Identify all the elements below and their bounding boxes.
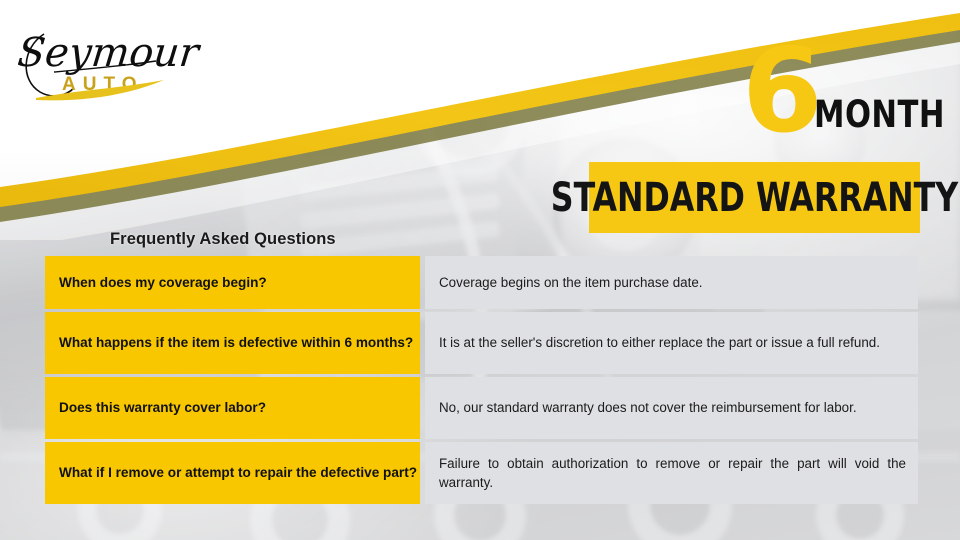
faq-answer-text: It is at the seller's discretion to eith… — [439, 333, 906, 352]
faq-question-text: When does my coverage begin? — [59, 274, 267, 292]
warranty-slide: Seymour AUTO 6 MONTH STANDARD WARRANTY F… — [0, 0, 960, 540]
faq-question-cell: What if I remove or attempt to repair th… — [45, 442, 420, 504]
faq-answer-text: Coverage begins on the item purchase dat… — [439, 273, 906, 292]
warranty-month-label: MONTH — [814, 96, 945, 133]
faq-answer-text: No, our standard warranty does not cover… — [439, 398, 906, 417]
faq-question-text: What if I remove or attempt to repair th… — [59, 464, 417, 482]
table-row: Does this warranty cover labor? No, our … — [45, 377, 918, 439]
standard-warranty-banner: STANDARD WARRANTY — [589, 162, 920, 233]
seymour-auto-logo: Seymour AUTO — [18, 14, 208, 106]
faq-answer-cell: Coverage begins on the item purchase dat… — [425, 256, 918, 309]
faq-question-cell: What happens if the item is defective wi… — [45, 312, 420, 374]
faq-table: When does my coverage begin? Coverage be… — [45, 256, 918, 504]
faq-answer-text: Failure to obtain authorization to remov… — [439, 454, 906, 492]
faq-question-text: What happens if the item is defective wi… — [59, 334, 413, 352]
faq-question-cell: When does my coverage begin? — [45, 256, 420, 309]
svg-text:Seymour: Seymour — [18, 30, 204, 76]
table-row: What happens if the item is defective wi… — [45, 312, 918, 374]
faq-question-text: Does this warranty cover labor? — [59, 399, 266, 417]
faq-answer-cell: It is at the seller's discretion to eith… — [425, 312, 918, 374]
faq-question-cell: Does this warranty cover labor? — [45, 377, 420, 439]
faq-answer-cell: No, our standard warranty does not cover… — [425, 377, 918, 439]
faq-answer-cell: Failure to obtain authorization to remov… — [425, 442, 918, 504]
table-row: What if I remove or attempt to repair th… — [45, 442, 918, 504]
standard-warranty-text: STANDARD WARRANTY — [551, 178, 958, 218]
warranty-month-number: 6 — [742, 34, 821, 150]
faq-heading: Frequently Asked Questions — [110, 230, 336, 249]
warranty-duration-group: 6 MONTH — [742, 46, 942, 158]
table-row: When does my coverage begin? Coverage be… — [45, 256, 918, 309]
